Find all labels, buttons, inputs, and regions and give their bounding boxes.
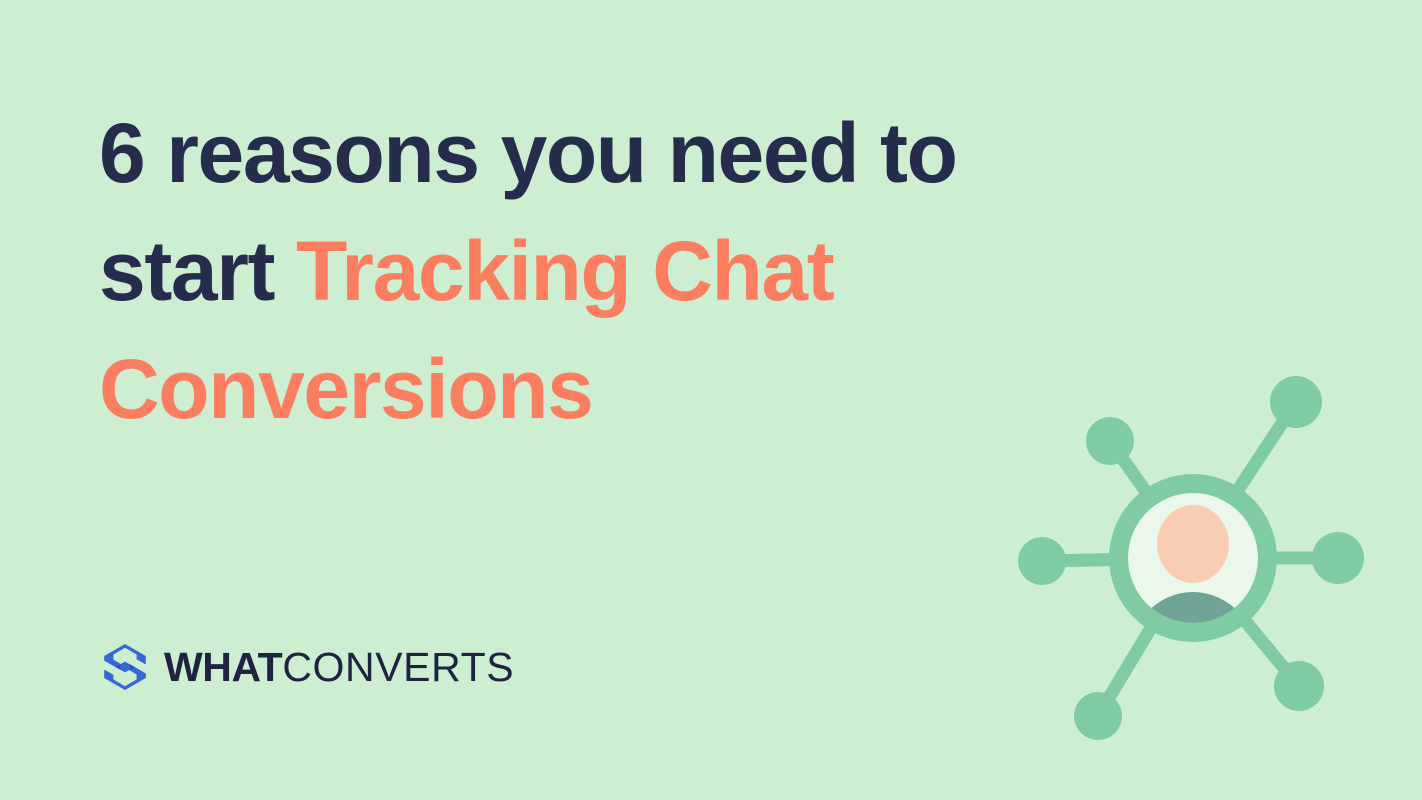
hero-card: 6 reasons you need to start Tracking Cha…	[0, 0, 1422, 800]
node-right	[1312, 532, 1364, 584]
whatconverts-hexagon-logo-icon	[100, 642, 150, 692]
node-top-right	[1270, 376, 1322, 428]
wordmark-converts: CONVERTS	[282, 647, 514, 688]
network-hub-person-illustration	[995, 368, 1380, 758]
avatar-head	[1157, 505, 1229, 583]
whatconverts-wordmark: WHATCONVERTS	[164, 647, 514, 688]
network-illustration-svg	[995, 368, 1380, 758]
node-bottom-right	[1274, 661, 1324, 711]
node-top-left	[1086, 417, 1134, 465]
wordmark-what: WHAT	[164, 647, 282, 688]
node-bottom-left	[1074, 692, 1122, 740]
whatconverts-logo[interactable]: WHATCONVERTS	[100, 638, 514, 696]
illustration-hub	[1109, 474, 1277, 736]
node-left	[1018, 537, 1066, 585]
page-title: 6 reasons you need to start Tracking Cha…	[99, 94, 1109, 448]
